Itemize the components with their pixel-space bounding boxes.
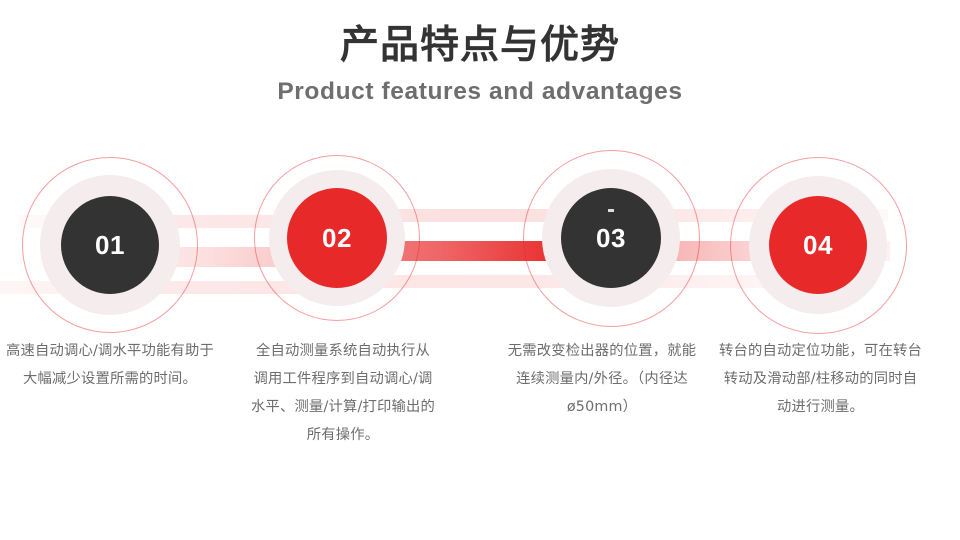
step-node-3-number: 03: [596, 225, 626, 251]
step-node-3-disc[interactable]: 03: [561, 188, 661, 288]
step-node-2-disc[interactable]: 02: [287, 188, 387, 288]
page-subtitle: Product features and advantages: [0, 79, 960, 106]
step-node-1-disc[interactable]: 01: [61, 196, 159, 294]
step-node-1-number: 01: [95, 232, 125, 258]
step-caption-1: 高速自动调心/调水平功能有助于大幅减少设置所需的时间。: [6, 338, 214, 394]
page-title: 产品特点与优势: [0, 24, 960, 69]
step-node-3-speck-mark: [608, 209, 614, 212]
step-node-4-number: 04: [803, 232, 833, 258]
step-caption-2: 全自动测量系统自动执行从调用工件程序到自动调心/调水平、测量/计算/打印输出的所…: [249, 338, 437, 450]
slide-canvas: 01 02 03 04 产品特点与优势 Product features and…: [0, 0, 960, 540]
step-caption-3: 无需改变检出器的位置，就能连续测量内/外径。（内径达ø50mm）: [501, 338, 703, 422]
step-node-4-disc[interactable]: 04: [769, 196, 867, 294]
step-node-2-number: 02: [322, 225, 352, 251]
step-caption-4: 转台的自动定位功能，可在转台转动及滑动部/柱移动的同时自动进行测量。: [719, 338, 922, 422]
header: 产品特点与优势 Product features and advantages: [0, 24, 960, 106]
